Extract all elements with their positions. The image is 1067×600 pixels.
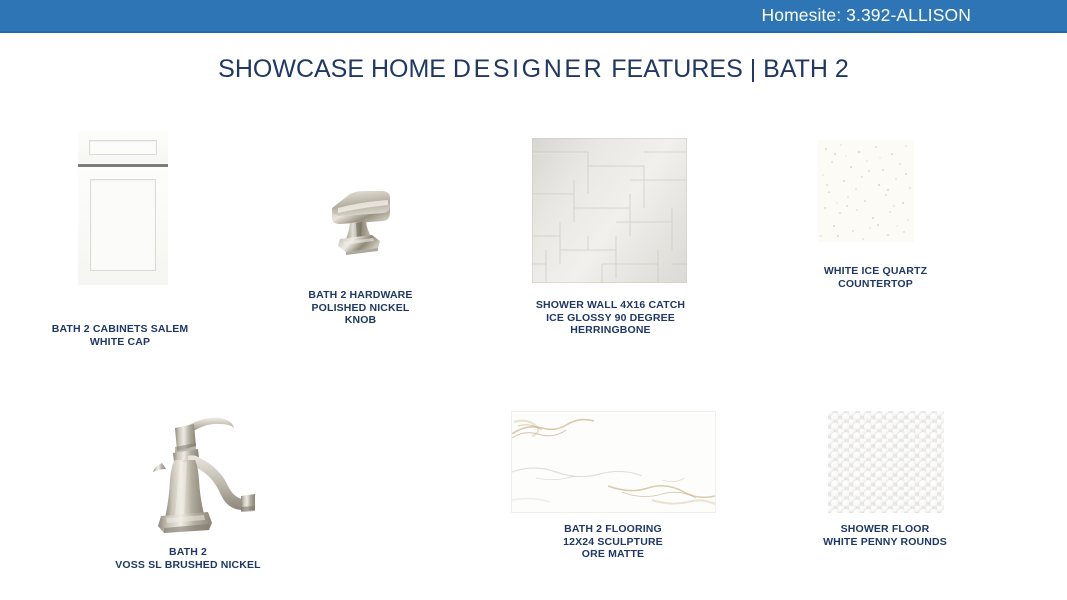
penny-round-mosaic-swatch	[827, 410, 945, 514]
page-title-part-3: FEATURES | BATH 2	[604, 55, 849, 83]
caption-countertop: WHITE ICE QUARTZ COUNTERTOP	[788, 265, 963, 290]
cabinet-drawer-panel	[89, 140, 157, 155]
marble-veining-pattern	[512, 412, 715, 512]
page-title: SHOWCASE HOME DESIGNER FEATURES | BATH 2	[0, 55, 1067, 84]
caption-flooring: BATH 2 FLOORING 12X24 SCULPTURE ORE MATT…	[528, 523, 698, 561]
quartz-countertop-swatch	[818, 140, 914, 242]
page-title-part-1: SHOWCASE HOME	[218, 55, 453, 83]
cabinet-door-front	[78, 167, 168, 285]
caption-faucet: BATH 2 VOSS SL BRUSHED NICKEL	[103, 546, 273, 571]
cabinet-knob-swatch	[316, 186, 404, 258]
cabinet-door-panel	[90, 179, 156, 271]
homesite-header-bar: Homesite: 3.392-ALLISON	[0, 0, 1067, 33]
penny-round-pattern	[827, 410, 945, 514]
quartz-speckle-pattern	[818, 140, 914, 242]
caption-hardware: BATH 2 HARDWARE POLISHED NICKEL KNOB	[278, 289, 443, 327]
faucet-illustration	[142, 406, 256, 534]
caption-shower-floor: SHOWER FLOOR WHITE PENNY ROUNDS	[795, 523, 975, 548]
caption-cabinets: BATH 2 CABINETS SALEM WHITE CAP	[20, 323, 220, 348]
caption-shower-wall: SHOWER WALL 4X16 CATCH ICE GLOSSY 90 DEG…	[508, 299, 713, 337]
herringbone-pattern	[532, 138, 687, 283]
cabinet-door-swatch	[78, 131, 168, 285]
marble-floor-tile-swatch	[511, 411, 716, 513]
page-title-part-2: DESIGNER	[453, 55, 604, 83]
knob-illustration	[316, 186, 404, 258]
cabinet-drawer-front	[78, 131, 168, 163]
bathroom-faucet-swatch	[142, 406, 256, 534]
homesite-label: Homesite: 3.392-ALLISON	[762, 5, 1067, 26]
herringbone-tile-swatch	[532, 138, 687, 283]
